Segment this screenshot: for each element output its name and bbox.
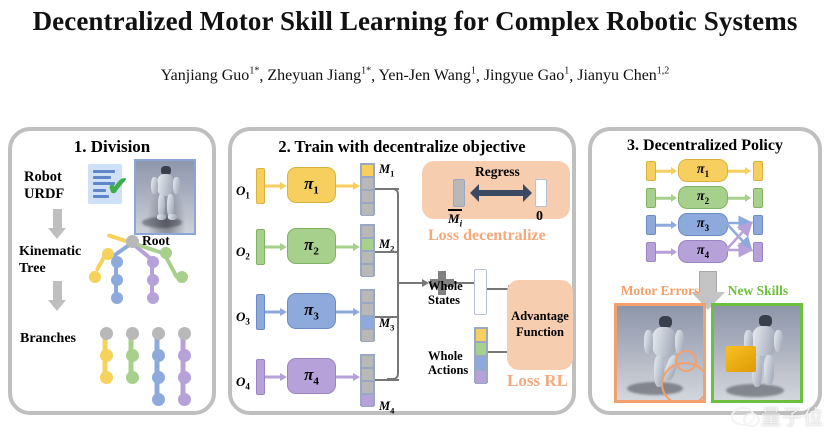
wechat-bubble-icon [731,405,757,426]
m-label-4: M4 [379,399,394,416]
dec-input-bar-1 [646,161,656,181]
m-bar-regress [453,179,465,207]
author-4: Jianyu Chen1,2 [577,67,669,84]
policy-box-1: π1 [287,167,336,203]
check-icon: ✔ [107,173,129,199]
dec-policy-box-3: π3 [678,213,728,236]
policy-box-3: π3 [287,293,336,329]
loss-decentralize-label: Loss decentralize [428,227,546,245]
loss-rl-label: Loss RL [507,371,568,391]
dec-output-bar-1 [753,161,763,181]
observation-bar-3 [256,294,265,330]
m-vector-1 [360,163,375,215]
m-vector-2 [360,224,375,276]
regress-label: Regress [475,164,520,180]
tree-node [111,274,123,286]
whole-states-label: WholeStates [428,279,463,307]
tree-node [147,274,159,286]
zero-value: 0 [536,209,543,225]
advantage-function-box: AdvantageFunction [507,280,573,370]
branches-label: Branches [20,331,76,347]
observation-label-1: O1 [236,183,250,201]
new-skills-caption: New Skills [710,283,806,299]
panel3-title: 3. Decentralized Policy [592,137,818,155]
author-list: Yanjiang Guo1*, Zheyuan Jiang1*, Yen-Jen… [0,66,830,85]
watermark-text: 量子位 [761,401,824,430]
panel-decentralized-policy: 3. Decentralized Policy π1 [588,127,822,415]
motor-errors-caption: Motor Errors [612,283,708,299]
tree-node [111,256,123,268]
author-1: Zheyuan Jiang1* [267,67,371,84]
m-vector-4 [360,354,375,406]
panel2-title: 2. Train with decentralize objective [232,137,572,157]
dec-input-bar-2 [646,188,656,208]
policy-box-2: π2 [287,228,336,264]
dec-input-bar-4 [646,242,656,262]
crossing-arrows [726,217,756,265]
observation-label-3: O3 [236,309,250,327]
panel1-title: 1. Division [12,137,212,157]
observation-bar-4 [256,359,265,395]
observation-label-4: O4 [236,374,250,392]
root-label: Root [142,233,170,249]
dec-input-bar-3 [646,215,656,235]
panel-division: 1. Division RobotURDF ✔ [8,127,216,415]
new-skills-photo [711,303,803,403]
motor-errors-photo [614,303,706,403]
robot-photo [134,159,196,235]
whole-actions-label: WholeActions [428,349,468,377]
policy-box-4: π4 [287,358,336,394]
kinematic-tree-graph: Root [82,233,214,318]
observation-bar-1 [256,168,265,204]
error-circle-large [661,362,706,403]
zero-bar-regress [535,179,547,207]
tree-node [111,292,123,304]
tree-node-root [126,235,139,248]
robot-urdf-label: RobotURDF [24,169,64,203]
observation-label-2: O2 [236,244,250,262]
m-bracket [387,188,399,380]
page-title: Decentralized Motor Skill Learning for C… [0,6,830,37]
tree-node [89,271,101,283]
figure-root: Decentralized Motor Skill Learning for C… [0,0,830,432]
author-0: Yanjiang Guo1* [161,67,260,84]
yellow-box-object [726,346,756,372]
tree-node [176,271,188,283]
author-2: Yen-Jen Wang1 [378,67,475,84]
author-3: Jingyue Gao1 [484,67,569,84]
m-bar-value: Mi [448,209,462,229]
branch-chains [100,327,210,411]
m-label-1: M1 [379,162,394,179]
tree-node [147,256,159,268]
dec-policy-box-2: π2 [678,186,728,209]
down-arrow-icon-1 [48,209,68,239]
dec-output-bar-2 [753,188,763,208]
kinematic-tree-label: KinematicTree [19,243,81,277]
whole-states-bar [474,269,487,315]
down-arrow-icon-2 [48,281,68,311]
dec-policy-box-1: π1 [678,159,728,182]
watermark: 量子位 [731,401,824,430]
m-vector-3 [360,289,375,341]
panel-train: 2. Train with decentralize objective O1 … [228,127,576,415]
whole-actions-bar [474,327,488,383]
tree-node [147,292,159,304]
observation-bar-2 [256,229,265,265]
dec-policy-box-4: π4 [678,240,728,263]
